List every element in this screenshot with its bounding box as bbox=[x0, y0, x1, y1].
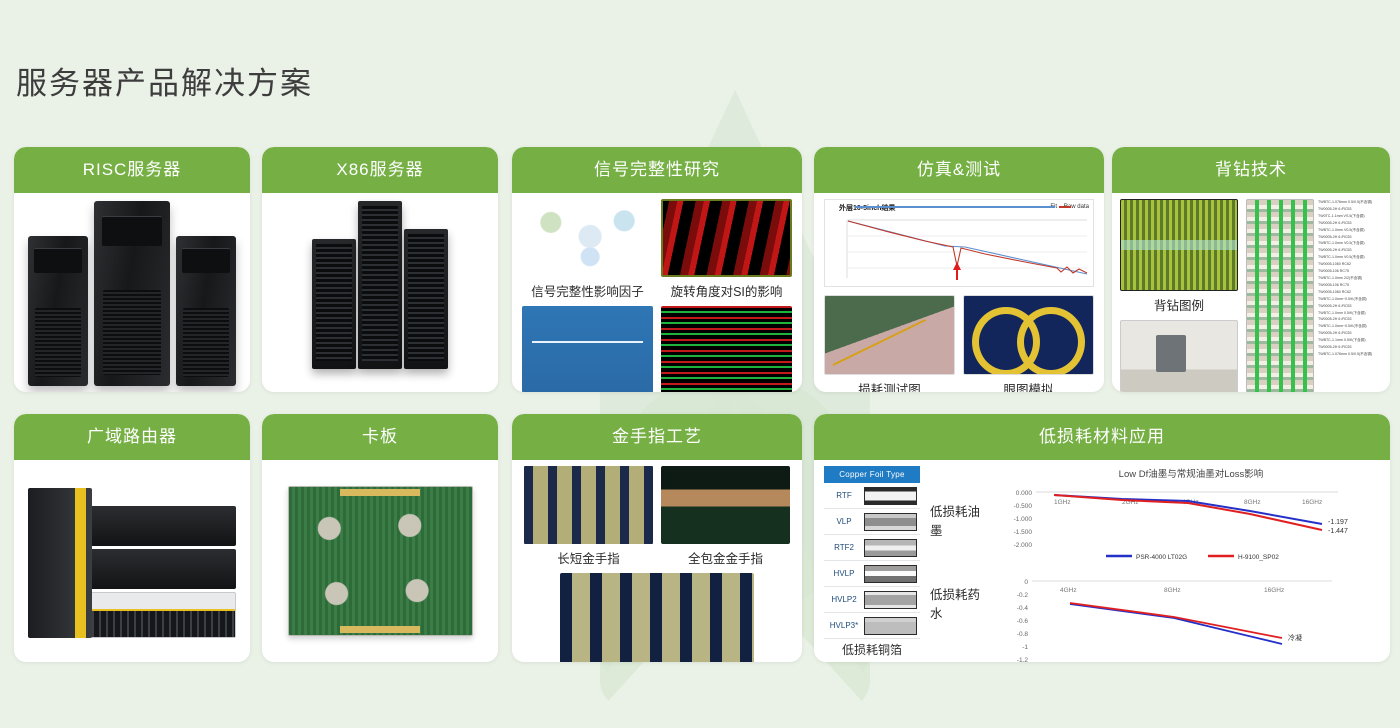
card-title-signal-integrity: 信号完整性研究 bbox=[512, 147, 802, 193]
card-risc-server[interactable]: RISC服务器 bbox=[14, 147, 250, 392]
card-body-wan-router bbox=[14, 460, 250, 662]
full-gold-finger-thumb bbox=[661, 466, 790, 544]
stackup-label: TWBTC-1.0mm~0.5/K(不含铜) bbox=[1318, 296, 1372, 303]
mindmap-thumb bbox=[522, 199, 653, 277]
aoi-machine-thumb bbox=[1120, 320, 1238, 392]
chem-xtick-2: 16GHz bbox=[1264, 587, 1284, 594]
card-title-gold-finger: 金手指工艺 bbox=[512, 414, 802, 460]
chem-xtick-1: 8GHz bbox=[1164, 587, 1181, 594]
sim-item-loss-test: 损耗测试图 bbox=[824, 295, 955, 392]
copper-foil-cross-section-thumb bbox=[864, 617, 917, 635]
chem-xtick-0: 4GHz bbox=[1060, 587, 1077, 594]
card-body-simulation-test: 外层10-5inch结果 Fit Raw data 损耗测试图 bbox=[814, 193, 1104, 392]
card-wan-router[interactable]: 广域路由器 bbox=[14, 414, 250, 662]
backdrill-right-column: TWBTC-1.076mm 0.5/0.5(不含铜)TW0005-2H 6 /R… bbox=[1246, 199, 1382, 392]
si-item-stackup: 叠构对SI的影响 bbox=[522, 306, 653, 392]
si-caption-0: 信号完整性影响因子 bbox=[522, 281, 653, 300]
sim-caption-0: 损耗测试图 bbox=[824, 379, 955, 392]
bd-item-aoi: 背钻AOI bbox=[1120, 320, 1238, 392]
ink-xtick-3: 8GHz bbox=[1244, 499, 1261, 506]
stackup-label: TW0005-1060 RC62 bbox=[1318, 261, 1372, 268]
copper-foil-row-label: HVLP bbox=[824, 569, 864, 578]
gf-item-full-gold: 全包金金手指 bbox=[661, 466, 790, 567]
stackup-label: TWBTC-1.0mm~0.5/K(不含铜) bbox=[1318, 323, 1372, 330]
card-title-back-drilling: 背钻技术 bbox=[1112, 147, 1390, 193]
card-low-loss-material[interactable]: 低损耗材料应用 Copper Foil Type RTFVLPRTF2HVLPH… bbox=[814, 414, 1390, 662]
chem-ytick-5: -1 bbox=[1022, 644, 1028, 651]
card-simulation-test[interactable]: 仿真&测试 外层10-5inch结果 Fit Raw data bbox=[814, 147, 1104, 392]
card-title-x86: X86服务器 bbox=[262, 147, 498, 193]
chem-ytick-4: -0.8 bbox=[1017, 631, 1029, 638]
si-caption-1: 旋转角度对SI的影响 bbox=[661, 281, 792, 300]
long-short-gold-finger-thumb bbox=[524, 466, 653, 544]
copper-foil-row-list: RTFVLPRTF2HVLPHVLP2HVLP3* bbox=[824, 483, 920, 639]
stackup-label: TW0005-2H 6 /RC53 bbox=[1318, 234, 1372, 241]
ink-xtick-4: 16GHz bbox=[1302, 499, 1322, 506]
si-item-rotation-angle: 旋转角度对SI的影响 bbox=[661, 199, 792, 300]
card-title-wan-router: 广域路由器 bbox=[14, 414, 250, 460]
chem-legend-0: 安美特 M500X(普通药水) bbox=[1122, 661, 1194, 662]
copper-foil-row[interactable]: HVLP3* bbox=[824, 613, 920, 639]
ink-loss-chart-title: Low Df油墨与常规油墨对Loss影响 bbox=[1002, 466, 1380, 480]
copper-foil-cross-section-thumb bbox=[864, 539, 917, 557]
card-title-low-loss-material: 低损耗材料应用 bbox=[814, 414, 1390, 460]
ink-legend-0: PSR-4000 LT02G bbox=[1136, 554, 1187, 561]
tower-servers-image bbox=[22, 201, 242, 392]
chem-ytick-6: -1.2 bbox=[1017, 657, 1029, 662]
gf-item-segmented: 分段金手指 bbox=[560, 573, 754, 662]
router-unit-stack bbox=[86, 506, 236, 638]
router-chassis-image bbox=[22, 468, 242, 654]
ink-ytick-3: -1.500 bbox=[1014, 529, 1033, 536]
card-title-simulation-test: 仿真&测试 bbox=[814, 147, 1104, 193]
router-blade bbox=[28, 488, 92, 638]
bd-item-example: 背钻图例 bbox=[1120, 199, 1238, 314]
copper-foil-row-label: RTF bbox=[824, 491, 864, 500]
stackup-thumb bbox=[1246, 199, 1314, 392]
red-xray-thumb bbox=[661, 199, 792, 277]
ink-loss-chart: Low Df油墨与常规油墨对Loss影响 0.000 -0.500 -1.000… bbox=[1002, 466, 1380, 566]
gf-caption-1: 全包金金手指 bbox=[661, 548, 790, 567]
copper-foil-row-label: RTF2 bbox=[824, 543, 864, 552]
stackup-label: TW0005-2H 6 /RC53 bbox=[1318, 247, 1372, 254]
tower-server-center bbox=[94, 201, 170, 386]
copper-foil-row-label: HVLP3* bbox=[824, 621, 864, 630]
stackup-label: TWBTC-1.076mm 0.5/0.5(不含铜) bbox=[1318, 351, 1372, 358]
backdrill-section-thumb bbox=[1120, 199, 1238, 291]
rack-server-center bbox=[358, 201, 402, 369]
card-body-risc bbox=[14, 193, 250, 392]
pcb-card-image bbox=[288, 486, 473, 636]
rack-server-right bbox=[404, 229, 448, 369]
chem-ytick-3: -0.6 bbox=[1017, 618, 1029, 625]
copper-foil-table-header: Copper Foil Type bbox=[824, 466, 920, 483]
card-gold-finger[interactable]: 金手指工艺 长短金手指 全包金金手指 分段金手指 bbox=[512, 414, 802, 662]
chem-legend-1: 新日铁 I-Bond 050C(低粗糙度) bbox=[1242, 661, 1330, 662]
gold-finger-top-grid: 长短金手指 全包金金手指 bbox=[524, 466, 790, 567]
label-low-loss-ink: 低损耗油墨 bbox=[930, 501, 992, 539]
chemical-loss-chart: 0 -0.2 -0.4 -0.6 -0.8 -1 -1.2 4GHz 8GHz … bbox=[1002, 568, 1380, 662]
card-body-board bbox=[262, 460, 498, 662]
rack-server-left bbox=[312, 239, 356, 369]
chem-annotation: 冷凝 bbox=[1288, 633, 1302, 642]
card-x86-server[interactable]: X86服务器 bbox=[262, 147, 498, 392]
stackup-label: TW0005-2H 6 /RC53 bbox=[1318, 344, 1372, 351]
eye-diagram-thumb bbox=[963, 295, 1094, 375]
outer-loss-chart-title: 外层10-5inch结果 bbox=[839, 203, 895, 213]
bd-caption-0: 背钻图例 bbox=[1120, 295, 1238, 314]
router-drive-shelf bbox=[86, 592, 236, 638]
stackup-label: TWBTC-1.0mm 0.5/K(下含铜) bbox=[1318, 310, 1372, 317]
card-back-drilling[interactable]: 背钻技术 背钻图例 背钻AOI TWBTC-1.076mm 0.5/0.5(不含… bbox=[1112, 147, 1390, 392]
card-signal-integrity[interactable]: 信号完整性研究 信号完整性影响因子 旋转角度对SI的影响 叠构对SI的影响 走线… bbox=[512, 147, 802, 392]
insertion-loss-thumb bbox=[824, 295, 955, 375]
ink-end-label-red: -1.447 bbox=[1328, 528, 1348, 535]
copper-foil-cross-section-thumb bbox=[864, 513, 917, 531]
low-loss-charts: Low Df油墨与常规油墨对Loss影响 0.000 -0.500 -1.000… bbox=[1002, 466, 1380, 662]
copper-foil-row-label: VLP bbox=[824, 517, 864, 526]
copper-foil-row[interactable]: HVLP2 bbox=[824, 587, 920, 613]
copper-foil-cross-section-thumb bbox=[864, 591, 917, 609]
tower-server-right bbox=[176, 236, 236, 386]
sim-thumb-grid: 损耗测试图 眼图模拟 bbox=[824, 295, 1094, 392]
copper-foil-row-label: HVLP2 bbox=[824, 595, 864, 604]
si-item-routing: 走线方式对SI的影响 bbox=[661, 306, 792, 392]
stackup-label-list: TWBTC-1.076mm 0.5/0.5(不含铜)TW0005-2H 6 /R… bbox=[1316, 199, 1372, 392]
stackup-label: TW0005-2H 6 /RC53 bbox=[1318, 220, 1372, 227]
blue-chart-thumb bbox=[522, 306, 653, 392]
chem-ytick-0: 0 bbox=[1024, 579, 1028, 586]
copper-foil-row[interactable]: RTF bbox=[824, 483, 920, 509]
stackup-label: TW0005-106 RC75 bbox=[1318, 268, 1372, 275]
stackup-label: TW0005-2H 6 /RC53 bbox=[1318, 330, 1372, 337]
gf-caption-0: 长短金手指 bbox=[524, 548, 653, 567]
ink-legend-1: H-9100_SP02 bbox=[1238, 554, 1279, 561]
chemical-loss-plot: 0 -0.2 -0.4 -0.6 -0.8 -1 -1.2 4GHz 8GHz … bbox=[1002, 568, 1362, 662]
ink-ytick-2: -1.000 bbox=[1014, 516, 1033, 523]
stackup-label: TWBTC-1.076mm 0.5/0.5(不含铜) bbox=[1318, 199, 1372, 206]
page-title: 服务器产品解决方案 bbox=[16, 58, 313, 103]
card-body-gold-finger: 长短金手指 全包金金手指 分段金手指 bbox=[512, 460, 802, 662]
sim-item-eye-diagram: 眼图模拟 bbox=[963, 295, 1094, 392]
stackup-label: TW0005-2H 6 /RC53 bbox=[1318, 303, 1372, 310]
stackup-label: TWBTC-1.1mm 0.5/K(下含铜) bbox=[1318, 337, 1372, 344]
ink-end-label-blue: -1.197 bbox=[1328, 519, 1348, 526]
card-title-board: 卡板 bbox=[262, 414, 498, 460]
si-item-influence-factors: 信号完整性影响因子 bbox=[522, 199, 653, 300]
sim-caption-1: 眼图模拟 bbox=[963, 379, 1094, 392]
stackup-label: TW0TC-1.1mm VS.5(下含铜) bbox=[1318, 213, 1372, 220]
chem-ytick-1: -0.2 bbox=[1017, 592, 1029, 599]
gf-item-long-short: 长短金手指 bbox=[524, 466, 653, 567]
card-body-back-drilling: 背钻图例 背钻AOI TWBTC-1.076mm 0.5/0.5(不含铜)TW0… bbox=[1112, 193, 1390, 392]
rack-servers-image bbox=[270, 201, 490, 391]
stackup-label: TWBTC-1.0mm V0.5(不含铜) bbox=[1318, 254, 1372, 261]
stackup-label: TW0005-106 RC75 bbox=[1318, 282, 1372, 289]
segmented-gold-finger-thumb bbox=[560, 573, 754, 662]
ink-ytick-0: 0.000 bbox=[1016, 490, 1033, 497]
backdrill-left-column: 背钻图例 背钻AOI bbox=[1120, 199, 1238, 392]
card-title-risc: RISC服务器 bbox=[14, 147, 250, 193]
copper-foil-caption: 低损耗铜箔 bbox=[824, 641, 920, 658]
stackup-label: TWBTC-1.0mm V0.5(不含铜) bbox=[1318, 227, 1372, 234]
ink-ytick-1: -0.500 bbox=[1014, 503, 1033, 510]
outer-loss-plot bbox=[825, 214, 1093, 284]
card-body-signal-integrity: 信号完整性影响因子 旋转角度对SI的影响 叠构对SI的影响 走线方式对SI的影响 bbox=[512, 193, 802, 392]
stackup-label: TW0005-2H 6 /RC53 bbox=[1318, 206, 1372, 213]
low-loss-side-labels: 低损耗油墨 低损耗药水 bbox=[930, 466, 992, 662]
card-board[interactable]: 卡板 bbox=[262, 414, 498, 662]
trace-layout-thumb bbox=[661, 306, 792, 392]
stackup-label: TWBTC-1.0mm 2/2(不含铜) bbox=[1318, 275, 1372, 282]
copper-foil-table[interactable]: Copper Foil Type RTFVLPRTF2HVLPHVLP2HVLP… bbox=[824, 466, 920, 662]
tower-server-left bbox=[28, 236, 88, 386]
ink-loss-plot: 0.000 -0.500 -1.000 -1.500 -2.000 1GHz 2… bbox=[1002, 480, 1362, 566]
outer-layer-loss-chart: 外层10-5inch结果 Fit Raw data bbox=[824, 199, 1094, 287]
stackup-label: TW0005-2H 6 /RC53 bbox=[1318, 316, 1372, 323]
ink-ytick-4: -2.000 bbox=[1014, 542, 1033, 549]
copper-foil-row[interactable]: RTF2 bbox=[824, 535, 920, 561]
ink-xtick-0: 1GHz bbox=[1054, 499, 1071, 506]
copper-foil-cross-section-thumb bbox=[864, 565, 917, 583]
copper-foil-row[interactable]: HVLP bbox=[824, 561, 920, 587]
card-body-x86 bbox=[262, 193, 498, 392]
label-low-loss-chem: 低损耗药水 bbox=[930, 584, 992, 622]
copper-foil-cross-section-thumb bbox=[864, 487, 917, 505]
card-body-low-loss-material: Copper Foil Type RTFVLPRTF2HVLPHVLP2HVLP… bbox=[814, 460, 1390, 662]
copper-foil-row[interactable]: VLP bbox=[824, 509, 920, 535]
stackup-label: TW0005-1060 RC62 bbox=[1318, 289, 1372, 296]
stackup-label: TWBTC-1.0mm V0.5(下含铜) bbox=[1318, 240, 1372, 247]
chem-ytick-2: -0.4 bbox=[1017, 605, 1029, 612]
